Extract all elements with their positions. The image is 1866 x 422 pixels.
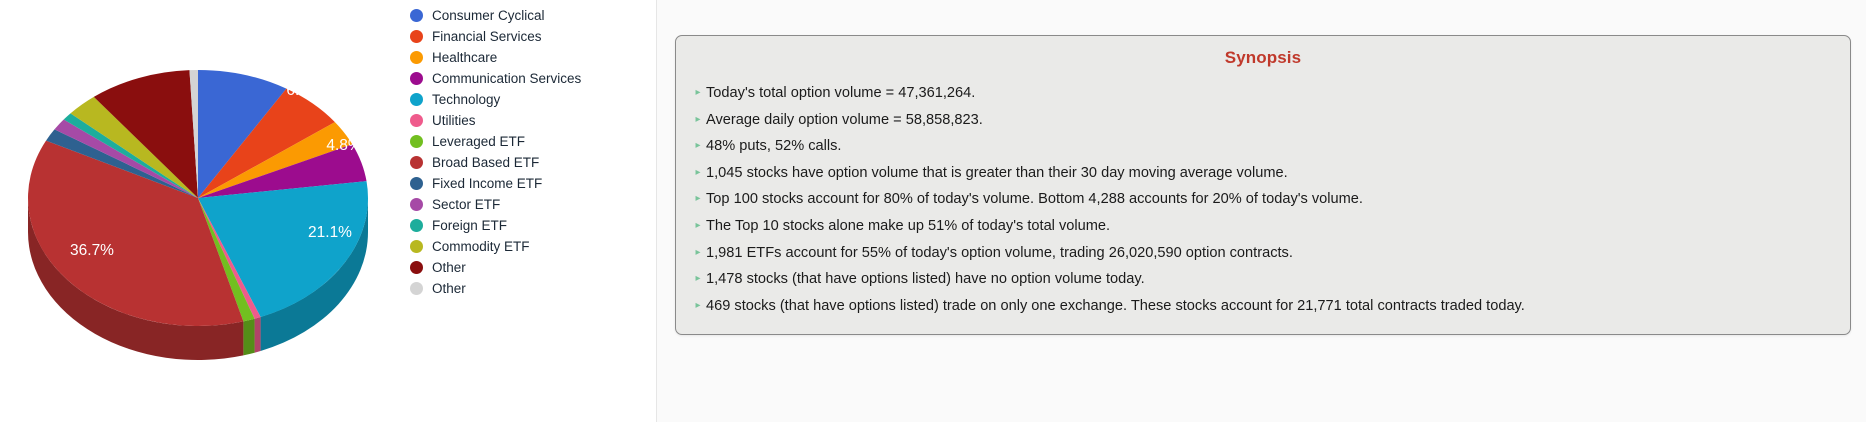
legend-item-label: Financial Services (432, 26, 542, 47)
legend-item-label: Broad Based ETF (432, 152, 539, 173)
pie-chart-svg[interactable]: Consumer Cyclical 8.7%Financial Services… (10, 8, 400, 408)
legend-item-label: Other (432, 278, 466, 299)
synopsis-item-text: 1,981 ETFs account for 55% of today's op… (706, 240, 1293, 267)
synopsis-item: ▸Today's total option volume = 47,361,26… (690, 80, 1832, 107)
legend-item[interactable]: Leveraged ETF (410, 131, 650, 152)
legend-swatch-icon (410, 198, 423, 211)
pie-slice-side (255, 317, 261, 353)
synopsis-item: ▸48% puts, 52% calls. (690, 133, 1832, 160)
legend-swatch-icon (410, 51, 423, 64)
pie-slice-percent-label: 6.2% (286, 82, 322, 99)
legend-item[interactable]: Technology (410, 89, 650, 110)
pie-slice-percent-label: 9.7% (140, 55, 176, 72)
legend-item[interactable]: Financial Services (410, 26, 650, 47)
synopsis-item: ▸1,045 stocks have option volume that is… (690, 160, 1832, 187)
legend-item[interactable]: Other (410, 257, 650, 278)
pie-legend[interactable]: Consumer CyclicalFinancial ServicesHealt… (410, 5, 650, 299)
legend-item[interactable]: Healthcare (410, 47, 650, 68)
pie-slice-side (243, 319, 254, 356)
legend-item[interactable]: Utilities (410, 110, 650, 131)
synopsis-item-text: Top 100 stocks account for 80% of today'… (706, 186, 1363, 213)
legend-item-label: Fixed Income ETF (432, 173, 542, 194)
dashboard-root: Consumer Cyclical 8.7%Financial Services… (0, 0, 1866, 422)
synopsis-item: ▸1,478 stocks (that have options listed)… (690, 266, 1832, 293)
legend-swatch-icon (410, 93, 423, 106)
legend-swatch-icon (410, 282, 423, 295)
legend-item[interactable]: Other (410, 278, 650, 299)
synopsis-item-text: 469 stocks (that have options listed) tr… (706, 293, 1525, 320)
legend-item[interactable]: Commodity ETF (410, 236, 650, 257)
legend-item[interactable]: Sector ETF (410, 194, 650, 215)
legend-swatch-icon (410, 240, 423, 253)
legend-swatch-icon (410, 114, 423, 127)
legend-item-label: Foreign ETF (432, 215, 507, 236)
legend-item-label: Commodity ETF (432, 236, 530, 257)
bullet-triangle-icon: ▸ (690, 160, 706, 187)
bullet-triangle-icon: ▸ (690, 213, 706, 240)
pie-chart[interactable]: Consumer Cyclical 8.7%Financial Services… (10, 8, 400, 408)
synopsis-item-text: 1,045 stocks have option volume that is … (706, 160, 1288, 187)
synopsis-box: Synopsis ▸Today's total option volume = … (675, 35, 1851, 335)
legend-item[interactable]: Communication Services (410, 68, 650, 89)
bullet-triangle-icon: ▸ (690, 240, 706, 267)
legend-item-label: Utilities (432, 110, 476, 131)
synopsis-item: ▸1,981 ETFs account for 55% of today's o… (690, 240, 1832, 267)
bullet-triangle-icon: ▸ (690, 293, 706, 320)
synopsis-item-text: 48% puts, 52% calls. (706, 133, 841, 160)
legend-swatch-icon (410, 261, 423, 274)
legend-item[interactable]: Fixed Income ETF (410, 173, 650, 194)
synopsis-item-text: Today's total option volume = 47,361,264… (706, 80, 975, 107)
synopsis-list: ▸Today's total option volume = 47,361,26… (676, 80, 1850, 319)
legend-item-label: Technology (432, 89, 500, 110)
legend-item-label: Communication Services (432, 68, 581, 89)
legend-item-label: Consumer Cyclical (432, 5, 545, 26)
pie-slice-percent-label: 21.1% (308, 224, 352, 241)
legend-swatch-icon (410, 135, 423, 148)
legend-swatch-icon (410, 219, 423, 232)
legend-swatch-icon (410, 72, 423, 85)
synopsis-title: Synopsis (676, 48, 1850, 68)
legend-swatch-icon (410, 9, 423, 22)
pie-slice-percent-label: 36.7% (70, 242, 114, 259)
bullet-triangle-icon: ▸ (690, 266, 706, 293)
legend-item-label: Sector ETF (432, 194, 500, 215)
synopsis-item: ▸469 stocks (that have options listed) t… (690, 293, 1832, 320)
legend-item[interactable]: Consumer Cyclical (410, 5, 650, 26)
legend-swatch-icon (410, 177, 423, 190)
bullet-triangle-icon: ▸ (690, 80, 706, 107)
bullet-triangle-icon: ▸ (690, 186, 706, 213)
synopsis-item-text: Average daily option volume = 58,858,823… (706, 107, 983, 134)
legend-item-label: Healthcare (432, 47, 497, 68)
legend-item-label: Leveraged ETF (432, 131, 525, 152)
option-volume-pie-panel: Consumer Cyclical 8.7%Financial Services… (0, 0, 656, 422)
synopsis-item: ▸Top 100 stocks account for 80% of today… (690, 186, 1832, 213)
bullet-triangle-icon: ▸ (690, 107, 706, 134)
synopsis-item-text: The Top 10 stocks alone make up 51% of t… (706, 213, 1110, 240)
synopsis-item: ▸The Top 10 stocks alone make up 51% of … (690, 213, 1832, 240)
legend-item[interactable]: Broad Based ETF (410, 152, 650, 173)
pie-slices[interactable]: Consumer Cyclical 8.7%Financial Services… (28, 70, 368, 326)
pie-slice-percent-label: 4.8% (326, 137, 362, 154)
legend-swatch-icon (410, 30, 423, 43)
synopsis-item: ▸Average daily option volume = 58,858,82… (690, 107, 1832, 134)
pie-slice-percent-label: 8.7% (226, 53, 262, 70)
legend-item-label: Other (432, 257, 466, 278)
legend-swatch-icon (410, 156, 423, 169)
bullet-triangle-icon: ▸ (690, 133, 706, 160)
synopsis-panel: Synopsis ▸Today's total option volume = … (656, 0, 1866, 422)
synopsis-item-text: 1,478 stocks (that have options listed) … (706, 266, 1145, 293)
legend-item[interactable]: Foreign ETF (410, 215, 650, 236)
